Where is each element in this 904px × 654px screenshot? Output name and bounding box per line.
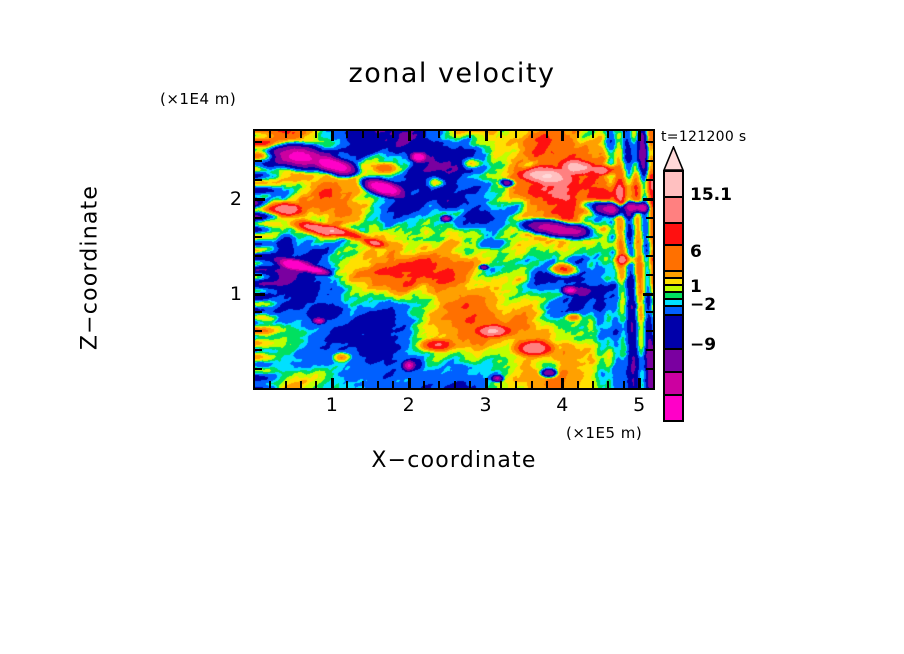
y-tick-left [255,349,262,351]
y-tick-right [646,141,653,143]
y-tick-right [646,330,653,332]
x-tick-bottom [315,381,317,388]
x-tick-top [592,131,594,138]
colorbar-band [663,222,684,244]
x-tick-bottom [408,378,411,388]
plot-area [253,129,655,390]
figure-canvas: zonal velocity (×1E4 m) (×1E5 m) X−coord… [0,0,904,654]
x-tick-top [577,131,579,138]
x-tick-bottom [346,381,348,388]
x-tick-bottom [469,381,471,388]
colorbar-tick-label: −2 [690,295,716,315]
x-tick-top [546,131,548,138]
colorbar [663,170,684,422]
y-tick-left [255,141,262,143]
y-tick-right [646,217,653,219]
x-tick-bottom [515,381,517,388]
x-tick-top [623,131,625,138]
x-tick-label: 5 [633,394,645,416]
colorbar-band [663,305,684,314]
x-tick-top [300,131,302,138]
colorbar-band [663,394,684,422]
colorbar-band [663,284,684,291]
colorbar-band [663,298,684,305]
y-tick-right [646,160,653,162]
y-tick-right [646,236,653,238]
timestamp-annotation: t=121200 s [661,129,746,145]
x-tick-top [561,131,564,141]
x-tick-top [469,131,471,138]
y-tick-right [643,293,653,296]
x-tick-label: 1 [326,394,338,416]
x-tick-bottom [638,378,641,388]
colorbar-tick-label: 6 [690,242,702,262]
x-tick-top [362,131,364,138]
x-tick-top [392,131,394,138]
heatmap-field [255,131,653,388]
y-tick-left [255,160,262,162]
x-tick-top [607,131,609,138]
y-tick-left [255,330,262,332]
x-tick-bottom [377,381,379,388]
x-tick-bottom [300,381,302,388]
colorbar-band [663,170,684,196]
y-tick-right [646,274,653,276]
x-tick-bottom [392,381,394,388]
x-tick-bottom [485,378,488,388]
x-tick-bottom [285,381,287,388]
x-tick-top [438,131,440,138]
y-tick-left [255,255,262,257]
x-tick-bottom [362,381,364,388]
y-tick-right [646,179,653,181]
y-tick-left [255,311,262,313]
x-tick-top [269,131,271,138]
colorbar-tick-label: −9 [690,335,716,355]
y-tick-right [646,368,653,370]
y-tick-left [255,179,262,181]
x-tick-top [377,131,379,138]
chart-title: zonal velocity [0,58,904,89]
x-tick-bottom [561,378,564,388]
x-tick-label: 3 [479,394,491,416]
x-tick-top [454,131,456,138]
y-tick-right [646,349,653,351]
x-tick-top [346,131,348,138]
colorbar-band [663,371,684,394]
y-tick-label: 1 [222,283,242,305]
x-tick-top [285,131,287,138]
colorbar-band [663,348,684,371]
colorbar-band [663,270,684,277]
x-tick-bottom [531,381,533,388]
colorbar-band [663,277,684,284]
x-tick-label: 4 [556,394,568,416]
x-tick-bottom [623,381,625,388]
x-tick-top [408,131,411,141]
x-tick-top [423,131,425,138]
y-tick-left [255,217,262,219]
x-tick-top [485,131,488,141]
colorbar-tick-label: 1 [690,277,702,297]
y-tick-left [255,198,265,201]
colorbar-tick-label: 15.1 [690,185,732,205]
x-tick-bottom [454,381,456,388]
y-tick-left [255,293,265,296]
x-tick-top [331,131,334,141]
x-tick-bottom [577,381,579,388]
x-tick-top [531,131,533,138]
x-tick-bottom [331,378,334,388]
y-tick-right [643,198,653,201]
y-tick-right [646,311,653,313]
x-tick-bottom [438,381,440,388]
x-tick-bottom [500,381,502,388]
x-tick-label: 2 [403,394,415,416]
x-tick-top [315,131,317,138]
x-axis-title: X−coordinate [253,448,655,473]
x-axis-unit-label: (×1E5 m) [566,424,642,442]
y-tick-label: 2 [222,188,242,210]
colorbar-band [663,244,684,270]
x-tick-bottom [546,381,548,388]
x-tick-bottom [607,381,609,388]
colorbar-band [663,314,684,348]
y-axis-title: Z−coordinate [78,138,103,398]
y-tick-right [646,255,653,257]
x-tick-bottom [269,381,271,388]
colorbar-band [663,291,684,298]
y-tick-left [255,368,262,370]
x-tick-top [500,131,502,138]
y-axis-unit-label: (×1E4 m) [160,90,236,108]
x-tick-bottom [423,381,425,388]
x-tick-top [638,131,641,141]
x-tick-top [515,131,517,138]
x-tick-bottom [592,381,594,388]
y-tick-left [255,274,262,276]
colorbar-arrow-icon [663,146,684,171]
y-tick-left [255,236,262,238]
colorbar-band [663,196,684,222]
